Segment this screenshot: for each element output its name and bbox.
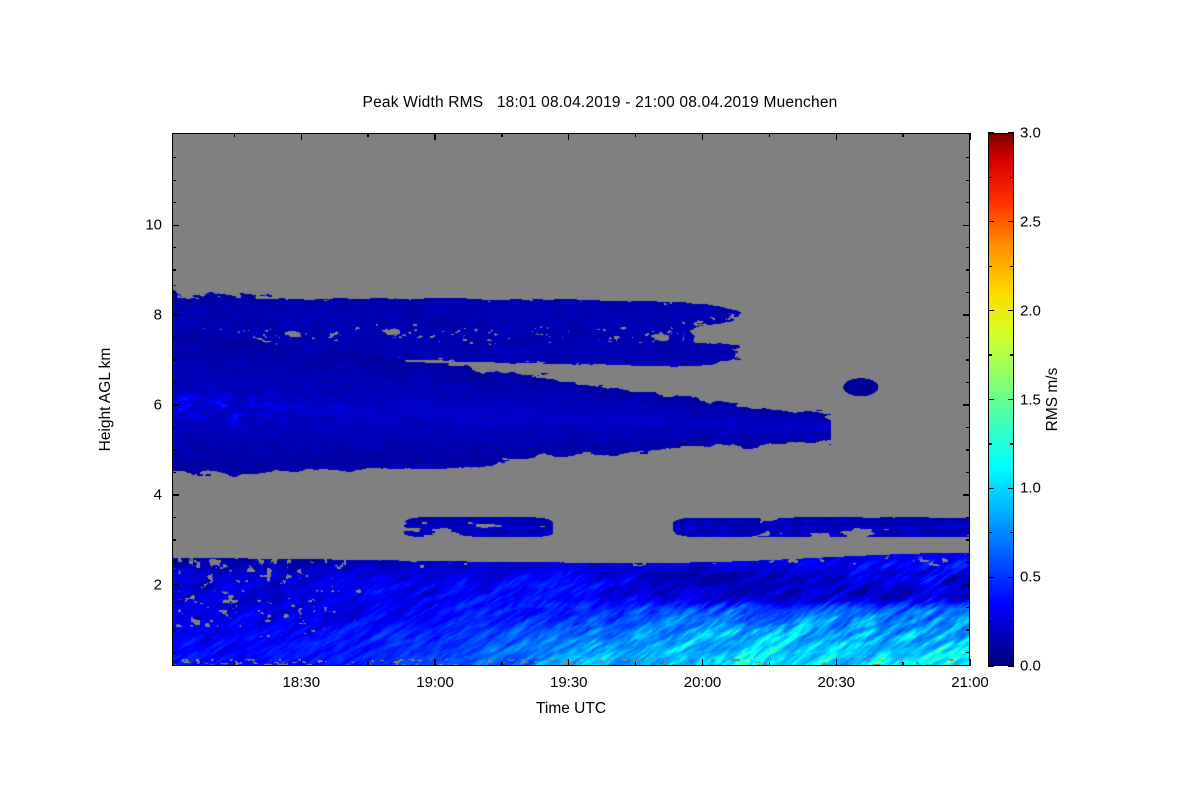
y-tick xyxy=(966,539,970,540)
x-tick xyxy=(836,659,837,666)
y-tick xyxy=(172,157,176,158)
colorbar-tick xyxy=(988,665,994,666)
y-tick xyxy=(963,225,970,226)
y-tick xyxy=(963,314,970,315)
y-tick xyxy=(172,494,179,495)
y-tick xyxy=(172,629,176,630)
y-tick xyxy=(966,427,970,428)
y-tick xyxy=(966,449,970,450)
x-tick xyxy=(902,133,903,137)
colorbar-tick xyxy=(1008,310,1014,311)
y-tick xyxy=(966,382,970,383)
y-tick xyxy=(172,314,179,315)
x-tick xyxy=(969,133,970,140)
colorbar-tick xyxy=(988,310,994,311)
colorbar-tick-label: 1.5 xyxy=(1020,391,1041,408)
x-tick-label: 19:30 xyxy=(550,674,588,691)
colorbar-tick xyxy=(988,221,994,222)
x-tick xyxy=(702,659,703,666)
x-tick xyxy=(367,662,368,666)
colorbar-tick-minor xyxy=(988,621,992,622)
y-tick xyxy=(172,517,176,518)
x-tick xyxy=(635,133,636,137)
x-tick xyxy=(836,133,837,140)
y-tick xyxy=(172,292,176,293)
colorbar-tick-minor xyxy=(1010,354,1014,355)
colorbar-tick-label: 0.0 xyxy=(1020,658,1041,675)
heatmap-plot-area[interactable] xyxy=(172,133,970,666)
y-tick-label: 8 xyxy=(124,307,162,324)
x-tick xyxy=(301,133,302,140)
y-tick xyxy=(172,427,176,428)
y-tick xyxy=(966,292,970,293)
colorbar-tick-minor xyxy=(988,266,992,267)
y-tick xyxy=(172,382,176,383)
y-tick-label: 2 xyxy=(124,577,162,594)
y-tick xyxy=(966,180,970,181)
colorbar-tick xyxy=(988,399,994,400)
y-tick xyxy=(172,337,176,338)
y-tick xyxy=(172,472,176,473)
y-tick xyxy=(172,202,176,203)
colorbar-tick-label: 2.5 xyxy=(1020,213,1041,230)
y-tick xyxy=(172,359,176,360)
colorbar-tick xyxy=(1008,132,1014,133)
y-tick xyxy=(966,472,970,473)
x-tick xyxy=(902,662,903,666)
colorbar-tick-label: 0.5 xyxy=(1020,569,1041,586)
y-tick xyxy=(963,404,970,405)
y-tick xyxy=(966,562,970,563)
y-tick xyxy=(966,202,970,203)
y-tick xyxy=(172,269,176,270)
y-tick xyxy=(966,337,970,338)
x-tick-label: 20:00 xyxy=(684,674,722,691)
x-tick xyxy=(568,133,569,140)
x-tick-label: 18:30 xyxy=(283,674,321,691)
y-tick xyxy=(172,652,176,653)
x-tick-label: 20:30 xyxy=(817,674,855,691)
x-tick xyxy=(501,133,502,137)
y-tick xyxy=(963,584,970,585)
colorbar-tick-label: 2.0 xyxy=(1020,302,1041,319)
colorbar-tick-minor xyxy=(1010,443,1014,444)
colorbar-tick-minor xyxy=(988,177,992,178)
y-tick xyxy=(966,607,970,608)
y-tick xyxy=(172,562,176,563)
colorbar-tick xyxy=(1008,665,1014,666)
x-tick xyxy=(434,659,435,666)
x-axis-label: Time UTC xyxy=(172,700,970,718)
x-tick xyxy=(367,133,368,137)
colorbar-tick xyxy=(988,132,994,133)
y-tick xyxy=(966,359,970,360)
y-tick xyxy=(172,225,179,226)
colorbar-tick xyxy=(1008,488,1014,489)
y-tick-label: 10 xyxy=(124,217,162,234)
y-tick xyxy=(172,539,176,540)
x-tick xyxy=(969,659,970,666)
x-tick xyxy=(769,133,770,137)
colorbar-tick-label: 3.0 xyxy=(1020,125,1041,142)
heatmap-canvas[interactable] xyxy=(173,134,970,666)
y-tick xyxy=(966,517,970,518)
figure-root: Peak Width RMS 18:01 08.04.2019 - 21:00 … xyxy=(0,0,1200,800)
colorbar-tick-minor xyxy=(988,532,992,533)
colorbar-tick-minor xyxy=(1010,532,1014,533)
x-tick xyxy=(635,662,636,666)
y-tick xyxy=(172,180,176,181)
colorbar-tick xyxy=(1008,221,1014,222)
x-tick-label: 19:00 xyxy=(416,674,454,691)
y-tick xyxy=(172,607,176,608)
x-tick-label: 21:00 xyxy=(951,674,989,691)
colorbar-tick-minor xyxy=(1010,177,1014,178)
x-tick xyxy=(501,662,502,666)
colorbar-tick-minor xyxy=(988,443,992,444)
colorbar-tick xyxy=(1008,399,1014,400)
y-tick xyxy=(966,157,970,158)
x-tick xyxy=(234,133,235,137)
y-tick xyxy=(172,449,176,450)
colorbar-axis-label: RMS m/s xyxy=(1044,368,1062,432)
y-tick xyxy=(963,494,970,495)
colorbar-tick-minor xyxy=(1010,621,1014,622)
y-tick xyxy=(172,404,179,405)
y-tick-label: 6 xyxy=(124,397,162,414)
y-tick xyxy=(172,584,179,585)
y-tick xyxy=(966,629,970,630)
x-tick xyxy=(702,133,703,140)
x-tick xyxy=(568,659,569,666)
y-tick xyxy=(966,269,970,270)
colorbar-tick xyxy=(988,577,994,578)
colorbar-tick-minor xyxy=(988,354,992,355)
y-tick xyxy=(966,247,970,248)
x-tick xyxy=(301,659,302,666)
colorbar-tick xyxy=(1008,577,1014,578)
colorbar-tick-label: 1.0 xyxy=(1020,480,1041,497)
y-tick xyxy=(172,247,176,248)
y-axis-label: Height AGL km xyxy=(97,348,115,452)
y-tick-label: 4 xyxy=(124,487,162,504)
colorbar-tick-minor xyxy=(1010,266,1014,267)
x-tick xyxy=(434,133,435,140)
y-tick xyxy=(966,652,970,653)
page-title: Peak Width RMS 18:01 08.04.2019 - 21:00 … xyxy=(0,94,1200,112)
colorbar-tick xyxy=(988,488,994,489)
x-tick xyxy=(769,662,770,666)
x-tick xyxy=(234,662,235,666)
